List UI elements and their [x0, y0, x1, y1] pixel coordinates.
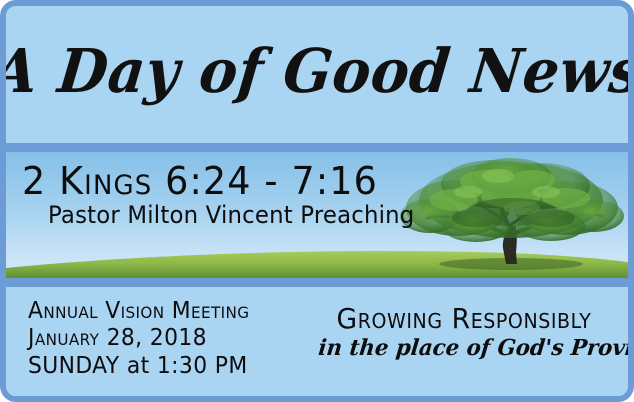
flyer-card: A Day of Good News — [0, 0, 634, 402]
meeting-details: Annual Vision Meeting January 28, 2018 S… — [28, 298, 261, 380]
meeting-time: SUNDAY at 1:30 PM — [28, 353, 249, 380]
meeting-event-name: Annual Vision Meeting — [28, 298, 249, 325]
theme-block: Growing Responsibly in the place of God'… — [314, 304, 614, 361]
divider-bottom — [6, 278, 628, 287]
theme-heading: Growing Responsibly — [322, 304, 607, 333]
preacher-name: Pastor Milton Vincent Preaching — [48, 202, 432, 229]
page-title: A Day of Good News — [0, 41, 634, 108]
scripture-block: 2 Kings 6:24 - 7:16 Pastor Milton Vincen… — [22, 162, 452, 229]
meeting-date: January 28, 2018 — [28, 325, 249, 352]
divider-top — [6, 143, 628, 152]
details-band: Annual Vision Meeting January 28, 2018 S… — [6, 287, 628, 396]
theme-subheading: in the place of God's Provision — [317, 336, 611, 360]
title-band: A Day of Good News — [6, 6, 628, 143]
scripture-reference: 2 Kings 6:24 - 7:16 — [22, 162, 435, 201]
photo-band: 2 Kings 6:24 - 7:16 Pastor Milton Vincen… — [6, 152, 628, 278]
